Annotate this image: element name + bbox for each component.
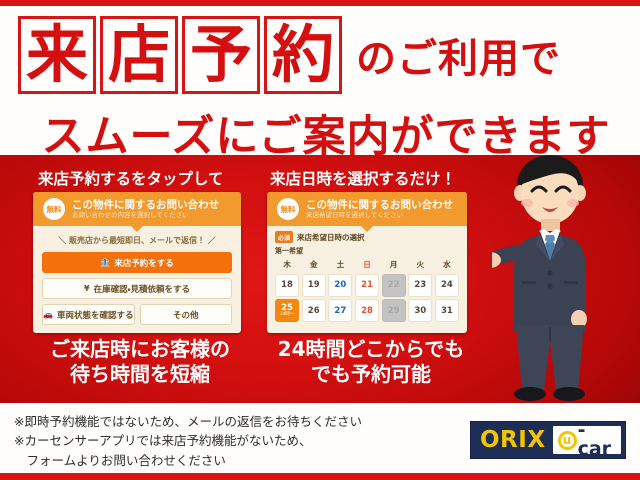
weekday-header: 金 — [302, 259, 326, 271]
right-panel-caption: 来店日時を選択するだけ！ — [270, 167, 456, 189]
date-number: 21 — [361, 280, 373, 290]
right-app-mockup: 無料 この物件に関するお問い合わせ 来店希望日時を選択してください 必須 来店希… — [267, 192, 467, 333]
date-number: 30 — [414, 306, 426, 316]
orix-ucar-logo: ORIX u -car — [470, 421, 626, 459]
left-benefit-line-2: 待ち時間を短縮 — [14, 362, 266, 387]
u-circle-icon: u — [558, 431, 577, 450]
ucar-logo-box: u -car — [553, 426, 621, 454]
left-benefit-line-1: ご来店時にお客様の — [14, 337, 266, 362]
headline-kanji-box-3: 予 — [182, 16, 260, 94]
disclaimer-line-1: ※即時予約機能ではないため、メールの返信をお待ちください — [14, 412, 362, 431]
date-number: 24 — [441, 280, 453, 290]
left-app-mockup: 無料 この物件に関するお問い合わせ お問い合わせの内容を選択してください ＼ 販… — [33, 192, 241, 333]
calendar-date-cell[interactable]: 27 — [328, 299, 352, 322]
headline-row-1: 来 店 予 約 のご利用で — [18, 16, 561, 94]
left-mockup-button-row: 🚗 車両状態を確認する その他 — [42, 304, 232, 325]
calendar-date-cell[interactable]: 24 — [435, 274, 459, 297]
calendar-date-cell[interactable]: 18 — [275, 274, 299, 297]
weekday-header: 木 — [275, 259, 299, 271]
calendar-date-cell-disabled: 22 — [382, 274, 406, 297]
required-badge: 必須 — [275, 231, 293, 243]
date-number: 20 — [334, 280, 346, 290]
calendar-preference-label: 第一希望 — [275, 246, 459, 256]
headline-kanji-box-1: 来 — [18, 16, 96, 94]
date-time-note: 14時～ — [280, 313, 295, 318]
date-number: 31 — [441, 306, 453, 316]
ucar-text: -car — [578, 421, 616, 459]
bottom-red-rule — [0, 473, 640, 480]
left-mockup-header-title: この物件に関するお問い合わせ — [72, 199, 219, 211]
calendar-field-label-row: 必須 来店希望日時の選択 — [275, 231, 459, 243]
calendar-date-cell[interactable]: 31 — [435, 299, 459, 322]
weekday-header: 土 — [328, 259, 352, 271]
visit-reservation-button[interactable]: 🏦 来店予約をする — [42, 252, 232, 273]
calendar-date-cell-disabled: 29 — [382, 299, 406, 322]
calendar-date-cell[interactable]: 28 — [355, 299, 379, 322]
calendar-date-grid: 18 19 20 21 22 23 24 25 14時～ 26 27 28 29… — [275, 274, 459, 323]
weekday-header: 日 — [355, 259, 379, 271]
left-mockup-header: 無料 この物件に関するお問い合わせ お問い合わせの内容を選択してください — [33, 192, 241, 226]
salesman-illustration — [492, 155, 640, 403]
right-benefit-line-2: でも予約可能 — [266, 362, 476, 387]
calendar-field-label: 来店希望日時の選択 — [297, 232, 365, 243]
advertisement-banner: 来 店 予 約 のご利用で スムーズにご案内ができます 来店予約するをタップして… — [0, 0, 640, 480]
free-badge: 無料 — [43, 198, 65, 220]
calendar-date-cell[interactable]: 21 — [355, 274, 379, 297]
date-number: 29 — [388, 306, 400, 316]
calendar-date-cell[interactable]: 23 — [408, 274, 432, 297]
headline-section: 来 店 予 約 のご利用で スムーズにご案内ができます — [0, 6, 640, 155]
weekday-header: 火 — [408, 259, 432, 271]
left-benefit-caption: ご来店時にお客様の 待ち時間を短縮 — [14, 337, 266, 387]
date-number: 28 — [361, 306, 373, 316]
headline-tail-text: のご利用で — [356, 26, 561, 84]
disclaimer-line-2: ※カーセンサーアプリでは来店予約機能がないため、 — [14, 431, 362, 450]
stock-estimate-button[interactable]: ¥ 在庫確認・見積依頼をする — [42, 278, 232, 299]
free-badge: 無料 — [277, 198, 299, 220]
calendar-date-cell[interactable]: 20 — [328, 274, 352, 297]
calendar-date-cell-selected[interactable]: 25 14時～ — [275, 299, 299, 322]
car-icon: 🚗 — [43, 310, 53, 319]
store-icon: 🏦 — [100, 258, 110, 267]
calendar-weekday-row: 木 金 土 日 月 火 水 — [275, 259, 459, 271]
red-feature-band: 来店予約するをタップして 来店日時を選択するだけ！ 無料 この物件に関するお問い… — [0, 155, 640, 403]
date-number: 26 — [308, 306, 320, 316]
right-benefit-caption: 24時間どこからでも でも予約可能 — [266, 337, 476, 387]
weekday-header: 水 — [435, 259, 459, 271]
disclaimer-line-3: フォームよりお問い合わせください — [14, 451, 362, 470]
other-button-label: その他 — [173, 309, 199, 321]
stock-estimate-button-label: 在庫確認・見積依頼をする — [94, 283, 190, 295]
left-panel-caption: 来店予約するをタップして — [38, 167, 224, 189]
date-number: 19 — [308, 280, 320, 290]
left-mockup-header-text: この物件に関するお問い合わせ お問い合わせの内容を選択してください — [72, 199, 219, 220]
calendar-body: 必須 来店希望日時の選択 第一希望 木 金 土 日 月 火 水 18 19 20 — [267, 226, 467, 326]
date-number: 18 — [281, 280, 293, 290]
date-number: 22 — [388, 280, 400, 290]
right-mockup-header-title: この物件に関するお問い合わせ — [306, 199, 453, 211]
left-mockup-header-subtitle: お問い合わせの内容を選択してください — [72, 212, 219, 219]
right-benefit-line-1: 24時間どこからでも — [266, 337, 476, 362]
headline-kanji-box-4: 約 — [264, 16, 342, 94]
right-mockup-header-subtitle: 来店希望日時を選択してください — [306, 212, 453, 219]
left-mockup-button-list: 🏦 来店予約をする ¥ 在庫確認・見積依頼をする 🚗 車両状態を確認する その他 — [33, 252, 241, 333]
disclaimer-text: ※即時予約機能ではないため、メールの返信をお待ちください ※カーセンサーアプリで… — [14, 412, 362, 470]
vehicle-condition-button[interactable]: 🚗 車両状態を確認する — [42, 304, 135, 325]
headline-kanji-box-2: 店 — [100, 16, 178, 94]
other-button[interactable]: その他 — [140, 304, 233, 325]
visit-reservation-button-label: 来店予約をする — [114, 257, 174, 269]
calendar-date-cell[interactable]: 26 — [302, 299, 326, 322]
orix-brand-text: ORIX — [471, 429, 553, 452]
weekday-header: 月 — [382, 259, 406, 271]
date-number: 23 — [414, 280, 426, 290]
date-number: 27 — [334, 306, 346, 316]
vehicle-condition-button-label: 車両状態を確認する — [57, 309, 134, 321]
right-mockup-header: 無料 この物件に関するお問い合わせ 来店希望日時を選択してください — [267, 192, 467, 226]
calendar-date-cell[interactable]: 30 — [408, 299, 432, 322]
yen-icon: ¥ — [84, 284, 90, 293]
calendar-date-cell[interactable]: 19 — [302, 274, 326, 297]
right-mockup-header-text: この物件に関するお問い合わせ 来店希望日時を選択してください — [306, 199, 453, 220]
